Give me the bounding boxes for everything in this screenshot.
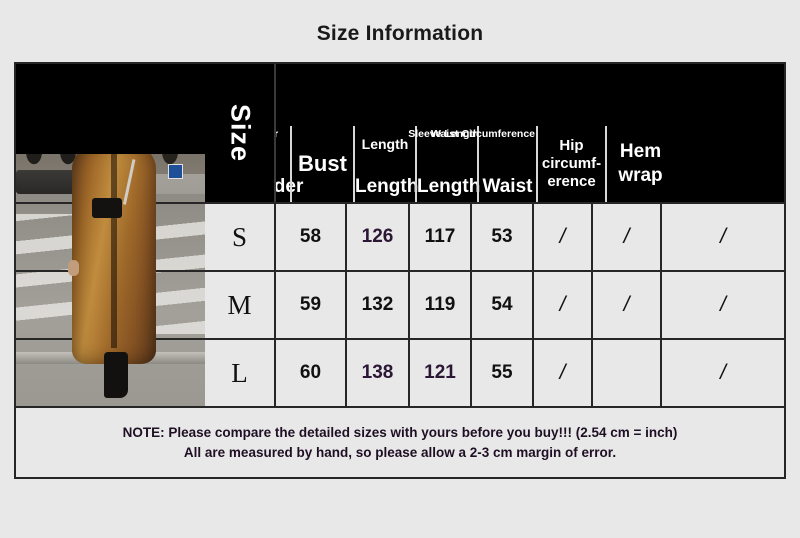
- row-l-sleeve: 55: [470, 340, 532, 406]
- row-m-shoulder: 59: [274, 272, 345, 338]
- row-l-waist: /: [532, 340, 591, 406]
- size-information-table: Shoulder Width Shoulder Bust Length Leng…: [14, 62, 786, 479]
- header-waist-big: Waist: [479, 176, 536, 198]
- header-sleeve-big: Length: [417, 176, 480, 198]
- row-m-hem: /: [660, 272, 784, 338]
- crossbody-bag: [92, 198, 122, 218]
- model-hand: [68, 260, 79, 276]
- row-s-shoulder: 58: [274, 204, 345, 270]
- header-hem-wrap: Hem wrap: [605, 126, 674, 202]
- footer-note: NOTE: Please compare the detailed sizes …: [16, 406, 784, 477]
- row-s-bust: 126: [345, 204, 408, 270]
- header-bust: Bust: [290, 126, 353, 202]
- row-l-length: 121: [408, 340, 470, 406]
- row-l-hem: /: [660, 340, 784, 406]
- black-boots: [104, 352, 128, 398]
- header-hem-line1: Hem: [620, 140, 661, 164]
- row-m-bust: 132: [345, 272, 408, 338]
- table-header-band: Shoulder Width Shoulder Bust Length Leng…: [205, 64, 784, 202]
- header-hip-line1: Hip: [559, 137, 583, 155]
- row-l-hip: [591, 340, 660, 406]
- row-m-waist: /: [532, 272, 591, 338]
- header-size-column: Size: [205, 64, 276, 202]
- parked-vehicles: [16, 170, 78, 194]
- row-m-sleeve: 54: [470, 272, 532, 338]
- header-hip-line3: erence: [547, 173, 595, 191]
- header-length-big: Length: [355, 176, 418, 198]
- row-m-hip: /: [591, 272, 660, 338]
- row-l-bust: 138: [345, 340, 408, 406]
- page-title: Size Information: [0, 22, 800, 46]
- photo-letterbox-top: [16, 64, 205, 154]
- row-s-waist: /: [532, 204, 591, 270]
- row-l-size: L: [205, 340, 274, 406]
- header-hip-line2: circumf-: [542, 155, 601, 173]
- row-s-hip: /: [591, 204, 660, 270]
- footer-note-line-1: NOTE: Please compare the detailed sizes …: [123, 425, 678, 440]
- row-s-size: S: [205, 204, 274, 270]
- row-s-hem: /: [660, 204, 784, 270]
- row-m-length: 119: [408, 272, 470, 338]
- footer-note-line-2: All are measured by hand, so please allo…: [184, 445, 616, 460]
- row-m-size: M: [205, 272, 274, 338]
- row-l-shoulder: 60: [274, 340, 345, 406]
- header-waist-small: Waist Circumference: [421, 128, 535, 140]
- header-hip-circumference: Hip circumf- erence: [536, 126, 605, 202]
- row-s-sleeve: 53: [470, 204, 532, 270]
- row-s-length: 117: [408, 204, 470, 270]
- header-bust-big: Bust: [292, 151, 353, 177]
- header-size-label: Size: [224, 104, 255, 162]
- header-waist: Waist Circumference Waist: [477, 126, 536, 202]
- header-hem-line2: wrap: [618, 164, 662, 188]
- street-sign-icon: [168, 164, 183, 179]
